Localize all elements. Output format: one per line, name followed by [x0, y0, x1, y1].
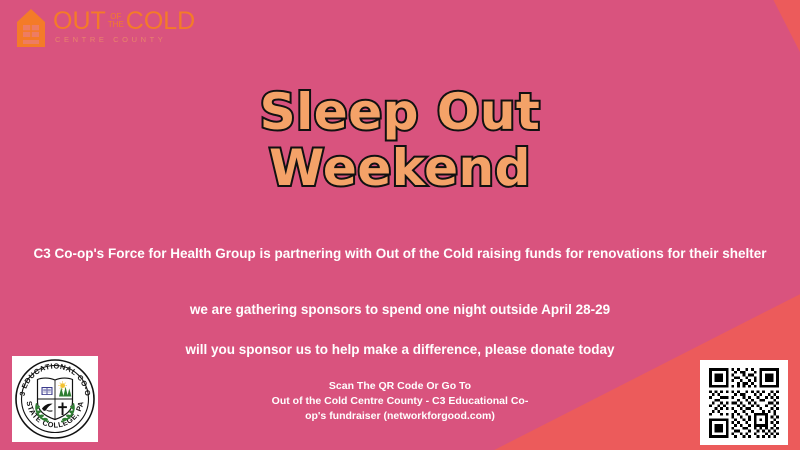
logo-word-of-the: OF THE — [108, 13, 124, 29]
logo-word-out: OUT — [53, 8, 106, 34]
logo-subtitle: CENTRE COUNTY — [55, 35, 195, 44]
house-icon — [14, 8, 48, 48]
scan-instructions: Scan The QR Code Or Go To Out of the Col… — [150, 379, 650, 424]
body-paragraph-2: we are gathering sponsors to spend one n… — [0, 299, 800, 320]
poster-title: Sleep Out Weekend — [0, 84, 800, 196]
seal-graphic: C3 EDUCATIONAL CO-OP STATE COLLEGE, PA — [12, 356, 98, 442]
qr-code[interactable] — [700, 360, 788, 445]
body-paragraph-1: C3 Co-op's Force for Health Group is par… — [0, 243, 800, 264]
title-line-2: Weekend — [0, 140, 800, 196]
scan-line-2: Out of the Cold Centre County - C3 Educa… — [150, 394, 650, 409]
title-line-1: Sleep Out — [0, 84, 800, 140]
logo-word-the: THE — [108, 21, 124, 29]
scan-line-3: op's fundraiser (networkforgood.com) — [150, 409, 650, 424]
body-paragraph-3: will you sponsor us to help make a diffe… — [0, 339, 800, 360]
logo-main-line: OUT OF THE COLD — [53, 8, 195, 34]
scan-line-1: Scan The QR Code Or Go To — [150, 379, 650, 394]
logo-wordmark: OUT OF THE COLD CENTRE COUNTY — [53, 8, 195, 44]
logo-word-cold: COLD — [126, 8, 195, 34]
qr-code-graphic — [709, 368, 779, 438]
content-layer: OUT OF THE COLD CENTRE COUNTY Sleep Out … — [0, 0, 800, 450]
c3-educational-coop-seal: C3 EDUCATIONAL CO-OP STATE COLLEGE, PA — [12, 356, 98, 442]
out-of-the-cold-logo: OUT OF THE COLD CENTRE COUNTY — [14, 8, 195, 50]
book-icon — [42, 387, 53, 395]
poster-canvas: OUT OF THE COLD CENTRE COUNTY Sleep Out … — [0, 0, 800, 450]
